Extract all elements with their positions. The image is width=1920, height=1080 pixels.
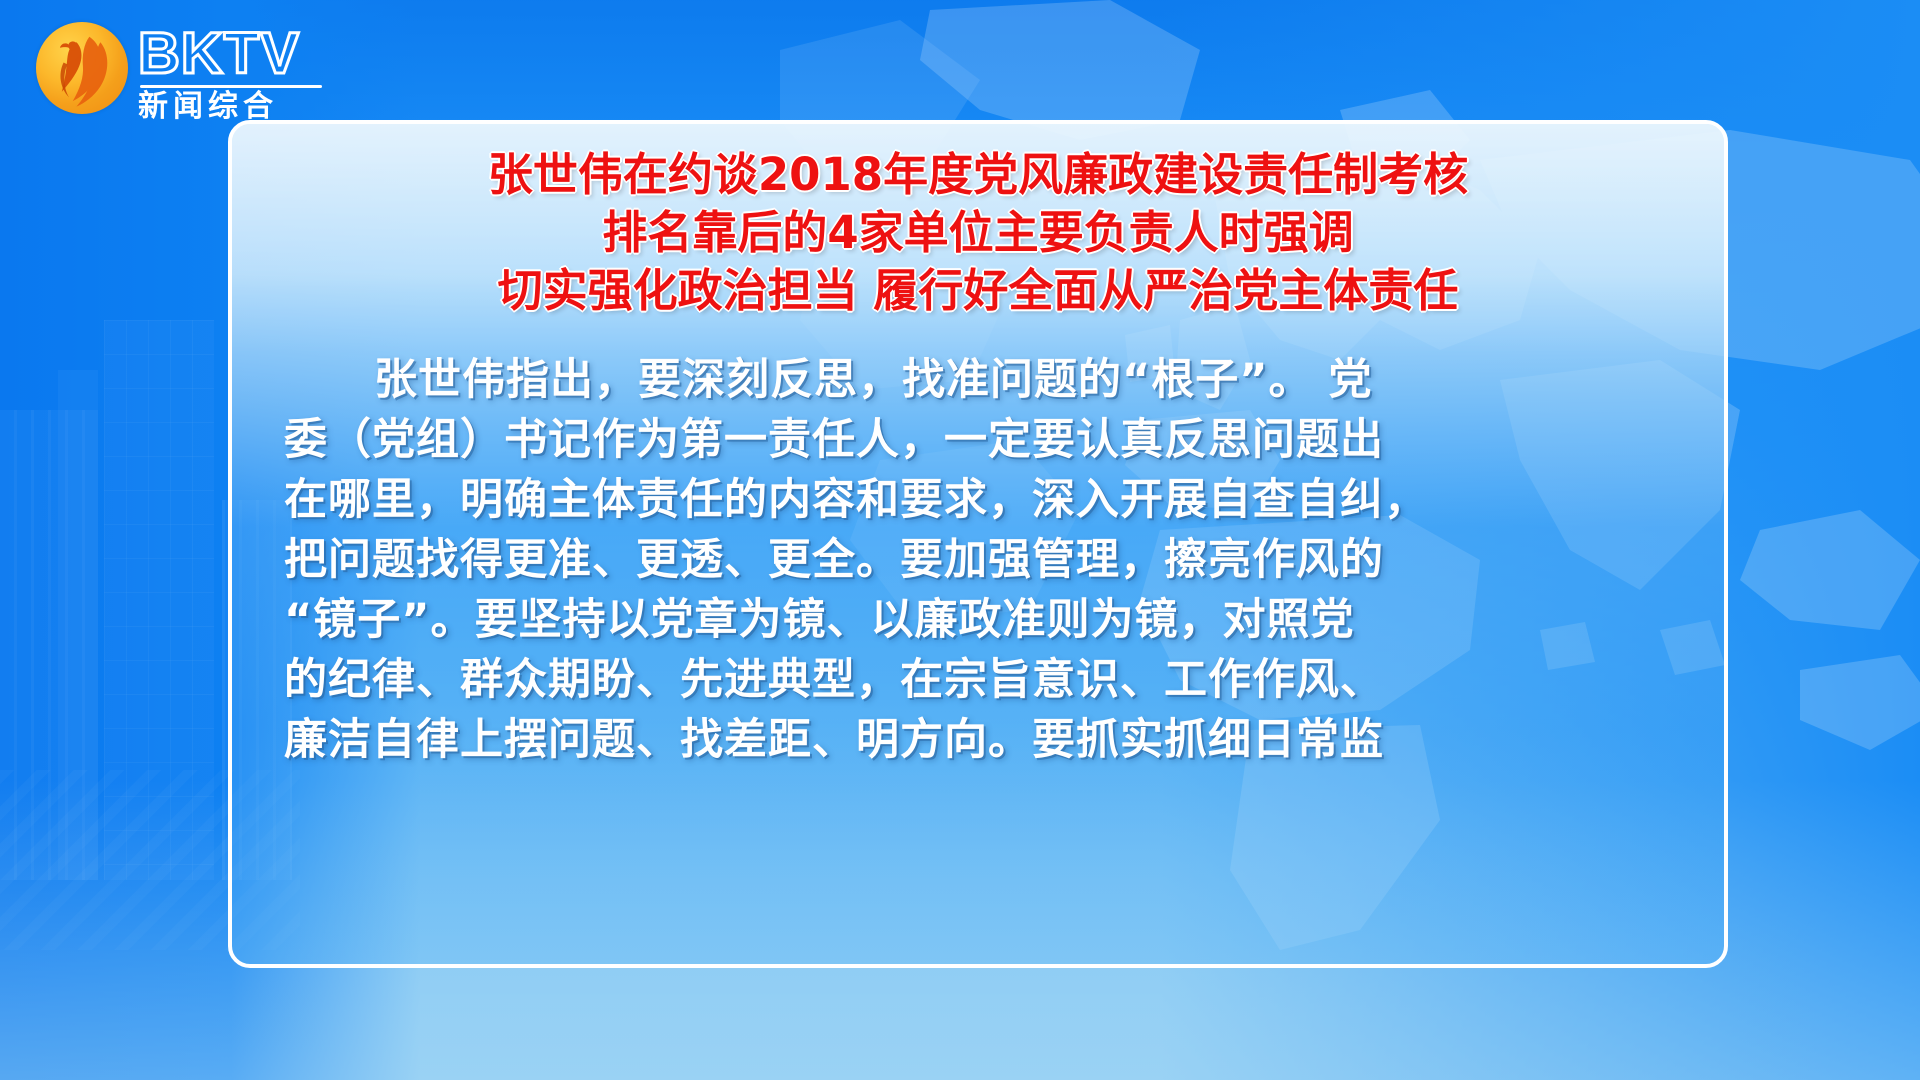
headline-line-1: 张世伟在约谈2018年度党风廉政建设责任制考核 <box>272 146 1684 204</box>
body-line-4: 把问题找得更准、更透、更全。要加强管理，擦亮作风的 <box>284 530 1672 590</box>
station-logo: BKTV 新闻综合 <box>36 22 316 142</box>
phoenix-circle-logo-icon <box>36 22 128 114</box>
body-line-1: 张世伟指出，要深刻反思，找准问题的“根子”。 党 <box>284 350 1672 410</box>
body-line-7: 廉洁自律上摆问题、找差距、明方向。要抓实抓细日常监 <box>284 710 1672 770</box>
headline-line-2: 排名靠后的4家单位主要负责人时强调 <box>272 204 1684 262</box>
headline-block: 张世伟在约谈2018年度党风廉政建设责任制考核 排名靠后的4家单位主要负责人时强… <box>272 146 1684 320</box>
body-line-5: “镜子”。要坚持以党章为镜、以廉政准则为镜，对照党 <box>284 590 1672 650</box>
station-logo-text: BKTV 新闻综合 <box>138 22 322 123</box>
body-line-6: 的纪律、群众期盼、先进典型，在宗旨意识、工作作风、 <box>284 650 1672 710</box>
content-panel: 张世伟在约谈2018年度党风廉政建设责任制考核 排名靠后的4家单位主要负责人时强… <box>228 120 1728 968</box>
channel-name-text: 新闻综合 <box>138 90 322 123</box>
broadcast-news-screen: BKTV 新闻综合 张世伟在约谈2018年度党风廉政建设责任制考核 排名靠后的4… <box>0 0 1920 1080</box>
body-text-block: 张世伟指出，要深刻反思，找准问题的“根子”。 党 委（党组）书记作为第一责任人，… <box>284 350 1672 770</box>
call-sign-text: BKTV <box>138 26 322 83</box>
body-line-2: 委（党组）书记作为第一责任人，一定要认真反思问题出 <box>284 410 1672 470</box>
body-line-3: 在哪里，明确主体责任的内容和要求，深入开展自查自纠， <box>284 470 1672 530</box>
headline-line-3: 切实强化政治担当 履行好全面从严治党主体责任 <box>272 262 1684 320</box>
